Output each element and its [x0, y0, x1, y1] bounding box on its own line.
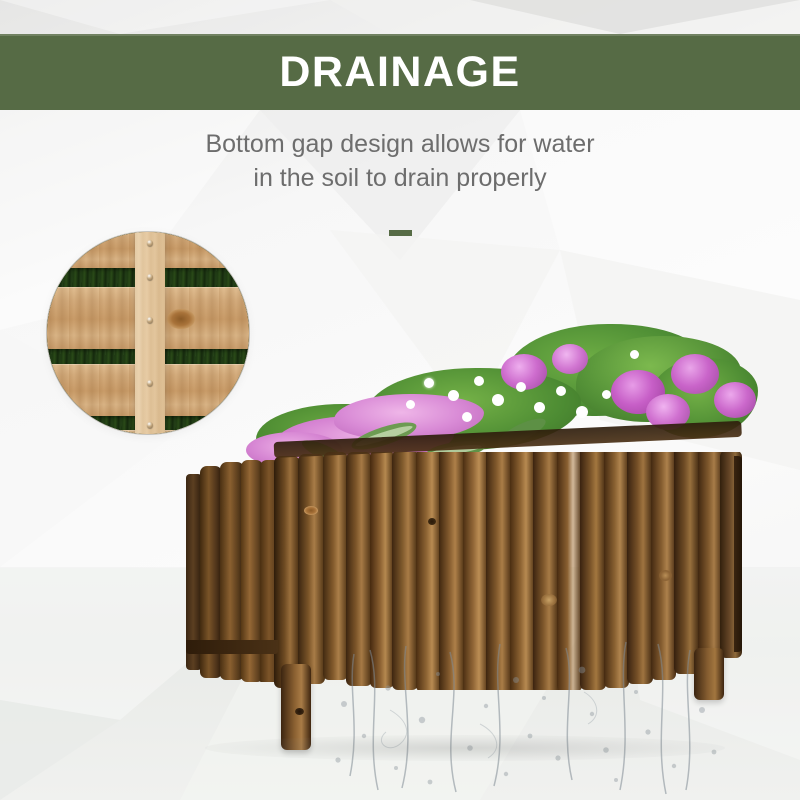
wood-knot: [541, 594, 557, 606]
subtitle-text: Bottom gap design allows for water in th…: [100, 128, 700, 196]
screw-icon: [147, 240, 153, 246]
screw-icon: [147, 317, 153, 323]
wood-knot: [304, 506, 318, 515]
screw-hole: [428, 518, 436, 525]
log-stave: [274, 456, 300, 688]
screw-icon: [147, 274, 153, 280]
infographic-canvas: DRAINAGE Bottom gap design allows for wa…: [0, 0, 800, 800]
subtitle-line-1: Bottom gap design allows for water: [100, 128, 700, 162]
water-streams: [330, 640, 730, 800]
page-title: DRAINAGE: [0, 34, 800, 110]
planter-right-edge: [734, 456, 742, 652]
subtitle-line-2: in the soil to drain properly: [100, 162, 700, 196]
section-divider: [389, 230, 412, 236]
water-drainage-effect: [330, 640, 730, 800]
screw-hole: [295, 708, 304, 715]
planter-base-board: [186, 640, 278, 654]
wood-knot: [659, 570, 672, 581]
screw-icon: [147, 422, 153, 428]
wood-knot: [167, 309, 195, 329]
vertical-support-strip: [135, 232, 165, 434]
screw-icon: [147, 380, 153, 386]
product-shadow: [205, 735, 725, 761]
log-stave: [298, 454, 325, 684]
